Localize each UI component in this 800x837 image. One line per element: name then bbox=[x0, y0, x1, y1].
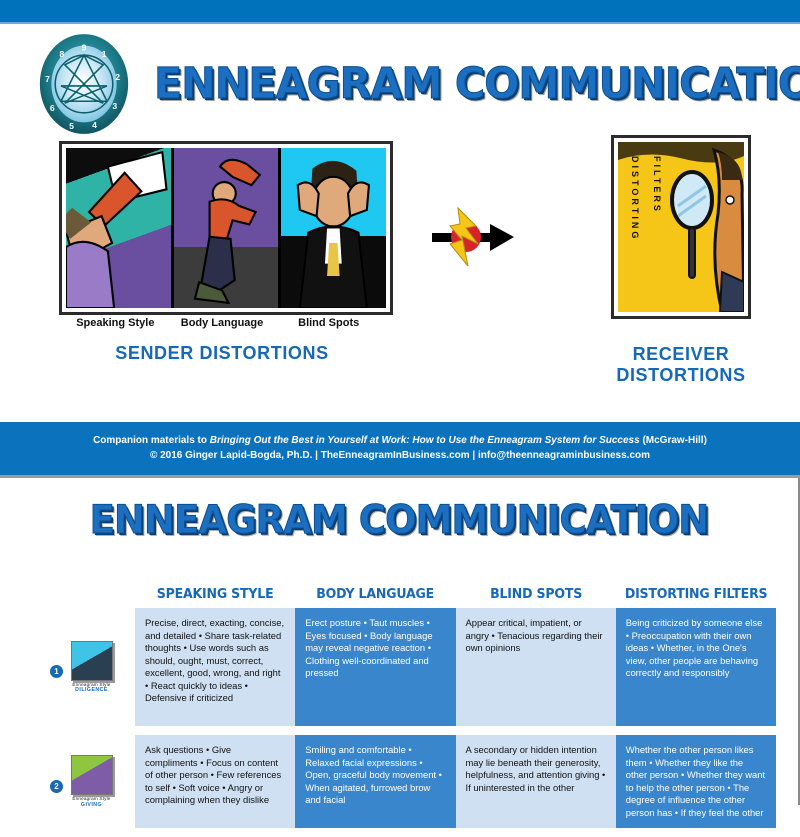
distortion-arrow-icon bbox=[432, 206, 514, 268]
cell-blind-spots: Appear critical, impatient, or angry • T… bbox=[456, 608, 616, 726]
style-name: GIVING bbox=[66, 802, 118, 808]
logo-number-3: 3 bbox=[112, 101, 117, 111]
caption-body-language: Body Language bbox=[169, 317, 276, 329]
distorting-filters-image: DISTORTING FILTERS bbox=[614, 138, 748, 316]
table-row: 2 Enneagram Style GIVING Ask questions •… bbox=[48, 735, 776, 828]
sender-captions: Speaking Style Body Language Blind Spots bbox=[62, 317, 382, 329]
credit-prefix: Companion materials to bbox=[93, 435, 210, 446]
cell-blind-spots: A secondary or hidden intention may lie … bbox=[456, 735, 616, 828]
style-number-badge: 2 bbox=[50, 780, 63, 793]
panel-body-language bbox=[174, 148, 282, 308]
communication-matrix: SPEAKING STYLE BODY LANGUAGE BLIND SPOTS… bbox=[48, 586, 776, 837]
style-thumbnail-icon bbox=[71, 641, 113, 681]
column-header-blind-spots: BLIND SPOTS bbox=[461, 586, 610, 602]
logo-number-2: 2 bbox=[115, 72, 120, 82]
style-name: DILIGENCE bbox=[66, 687, 118, 693]
row-style-label-1: 1 Enneagram Style DILIGENCE bbox=[48, 608, 135, 726]
masthead: 9 1 2 3 4 5 6 7 8 ENNEAGRAM COMMUNICATIO… bbox=[0, 24, 800, 134]
caption-blind-spots: Blind Spots bbox=[275, 317, 382, 329]
panel-blind-spots bbox=[281, 148, 386, 308]
receiver-distortions-block: DISTORTING FILTERS RECEIVER DISTORTIONS bbox=[586, 138, 776, 386]
logo-number-4: 4 bbox=[92, 120, 97, 130]
cell-distorting-filters: Whether the other person likes them • Wh… bbox=[616, 735, 776, 828]
caption-speaking-style: Speaking Style bbox=[62, 317, 169, 329]
credit-suffix: (McGraw-Hill) bbox=[640, 435, 707, 446]
sender-triptych-image bbox=[62, 144, 390, 312]
logo-number-7: 7 bbox=[45, 74, 50, 84]
credit-band: Companion materials to Bringing Out the … bbox=[0, 422, 800, 478]
logo-number-5: 5 bbox=[69, 121, 74, 131]
row-style-label-2: 2 Enneagram Style GIVING bbox=[48, 735, 135, 828]
column-header-speaking-style: SPEAKING STYLE bbox=[141, 586, 290, 602]
sender-distortions-block: Speaking Style Body Language Blind Spots… bbox=[62, 144, 382, 364]
cell-body-language: Smiling and comfortable • Relaxed facial… bbox=[295, 735, 455, 828]
sender-distortions-title: SENDER DISTORTIONS bbox=[62, 343, 382, 364]
enneagram-logo-icon: 9 1 2 3 4 5 6 7 8 bbox=[36, 32, 132, 136]
slide-two-title: ENNEAGRAM COMMUNICATION bbox=[20, 478, 778, 543]
illustration-row: Speaking Style Body Language Blind Spots… bbox=[0, 134, 800, 389]
panel-speaking-style bbox=[66, 148, 174, 308]
table-row: 1 Enneagram Style DILIGENCE Precise, dir… bbox=[48, 608, 776, 726]
slide-two: ENNEAGRAM COMMUNICATION SPEAKING STYLE B… bbox=[0, 478, 800, 805]
receiver-distortions-title: RECEIVER DISTORTIONS bbox=[586, 344, 776, 386]
cell-distorting-filters: Being criticized by someone else • Preoc… bbox=[616, 608, 776, 726]
logo-number-9: 9 bbox=[82, 42, 87, 52]
cell-speaking-style: Precise, direct, exacting, concise, and … bbox=[135, 608, 295, 726]
style-thumbnail-icon bbox=[71, 755, 113, 795]
column-header-body-language: BODY LANGUAGE bbox=[301, 586, 450, 602]
cell-speaking-style: Ask questions • Give compliments • Focus… bbox=[135, 735, 295, 828]
page-title: ENNEAGRAM COMMUNICATION bbox=[154, 59, 800, 109]
credit-book-title: Bringing Out the Best in Yourself at Wor… bbox=[210, 435, 640, 446]
cell-body-language: Erect posture • Taut muscles • Eyes focu… bbox=[295, 608, 455, 726]
style-card-1: Enneagram Style DILIGENCE bbox=[66, 641, 118, 694]
row-cells: Ask questions • Give compliments • Focus… bbox=[135, 735, 776, 828]
top-blue-bar bbox=[0, 0, 800, 22]
column-header-distorting-filters: DISTORTING FILTERS bbox=[621, 586, 770, 602]
logo-number-8: 8 bbox=[60, 49, 65, 59]
credit-line-1: Companion materials to Bringing Out the … bbox=[0, 433, 800, 448]
style-card-2: Enneagram Style GIVING bbox=[66, 755, 118, 808]
row-cells: Precise, direct, exacting, concise, and … bbox=[135, 608, 776, 726]
slide-one: 9 1 2 3 4 5 6 7 8 ENNEAGRAM COMMUNICATIO… bbox=[0, 24, 800, 422]
style-number-badge: 1 bbox=[50, 665, 63, 678]
credit-line-2: © 2016 Ginger Lapid-Bogda, Ph.D. | TheEn… bbox=[0, 448, 800, 463]
logo-number-6: 6 bbox=[50, 103, 55, 113]
matrix-column-headers: SPEAKING STYLE BODY LANGUAGE BLIND SPOTS… bbox=[135, 586, 776, 602]
logo-number-1: 1 bbox=[102, 49, 107, 59]
